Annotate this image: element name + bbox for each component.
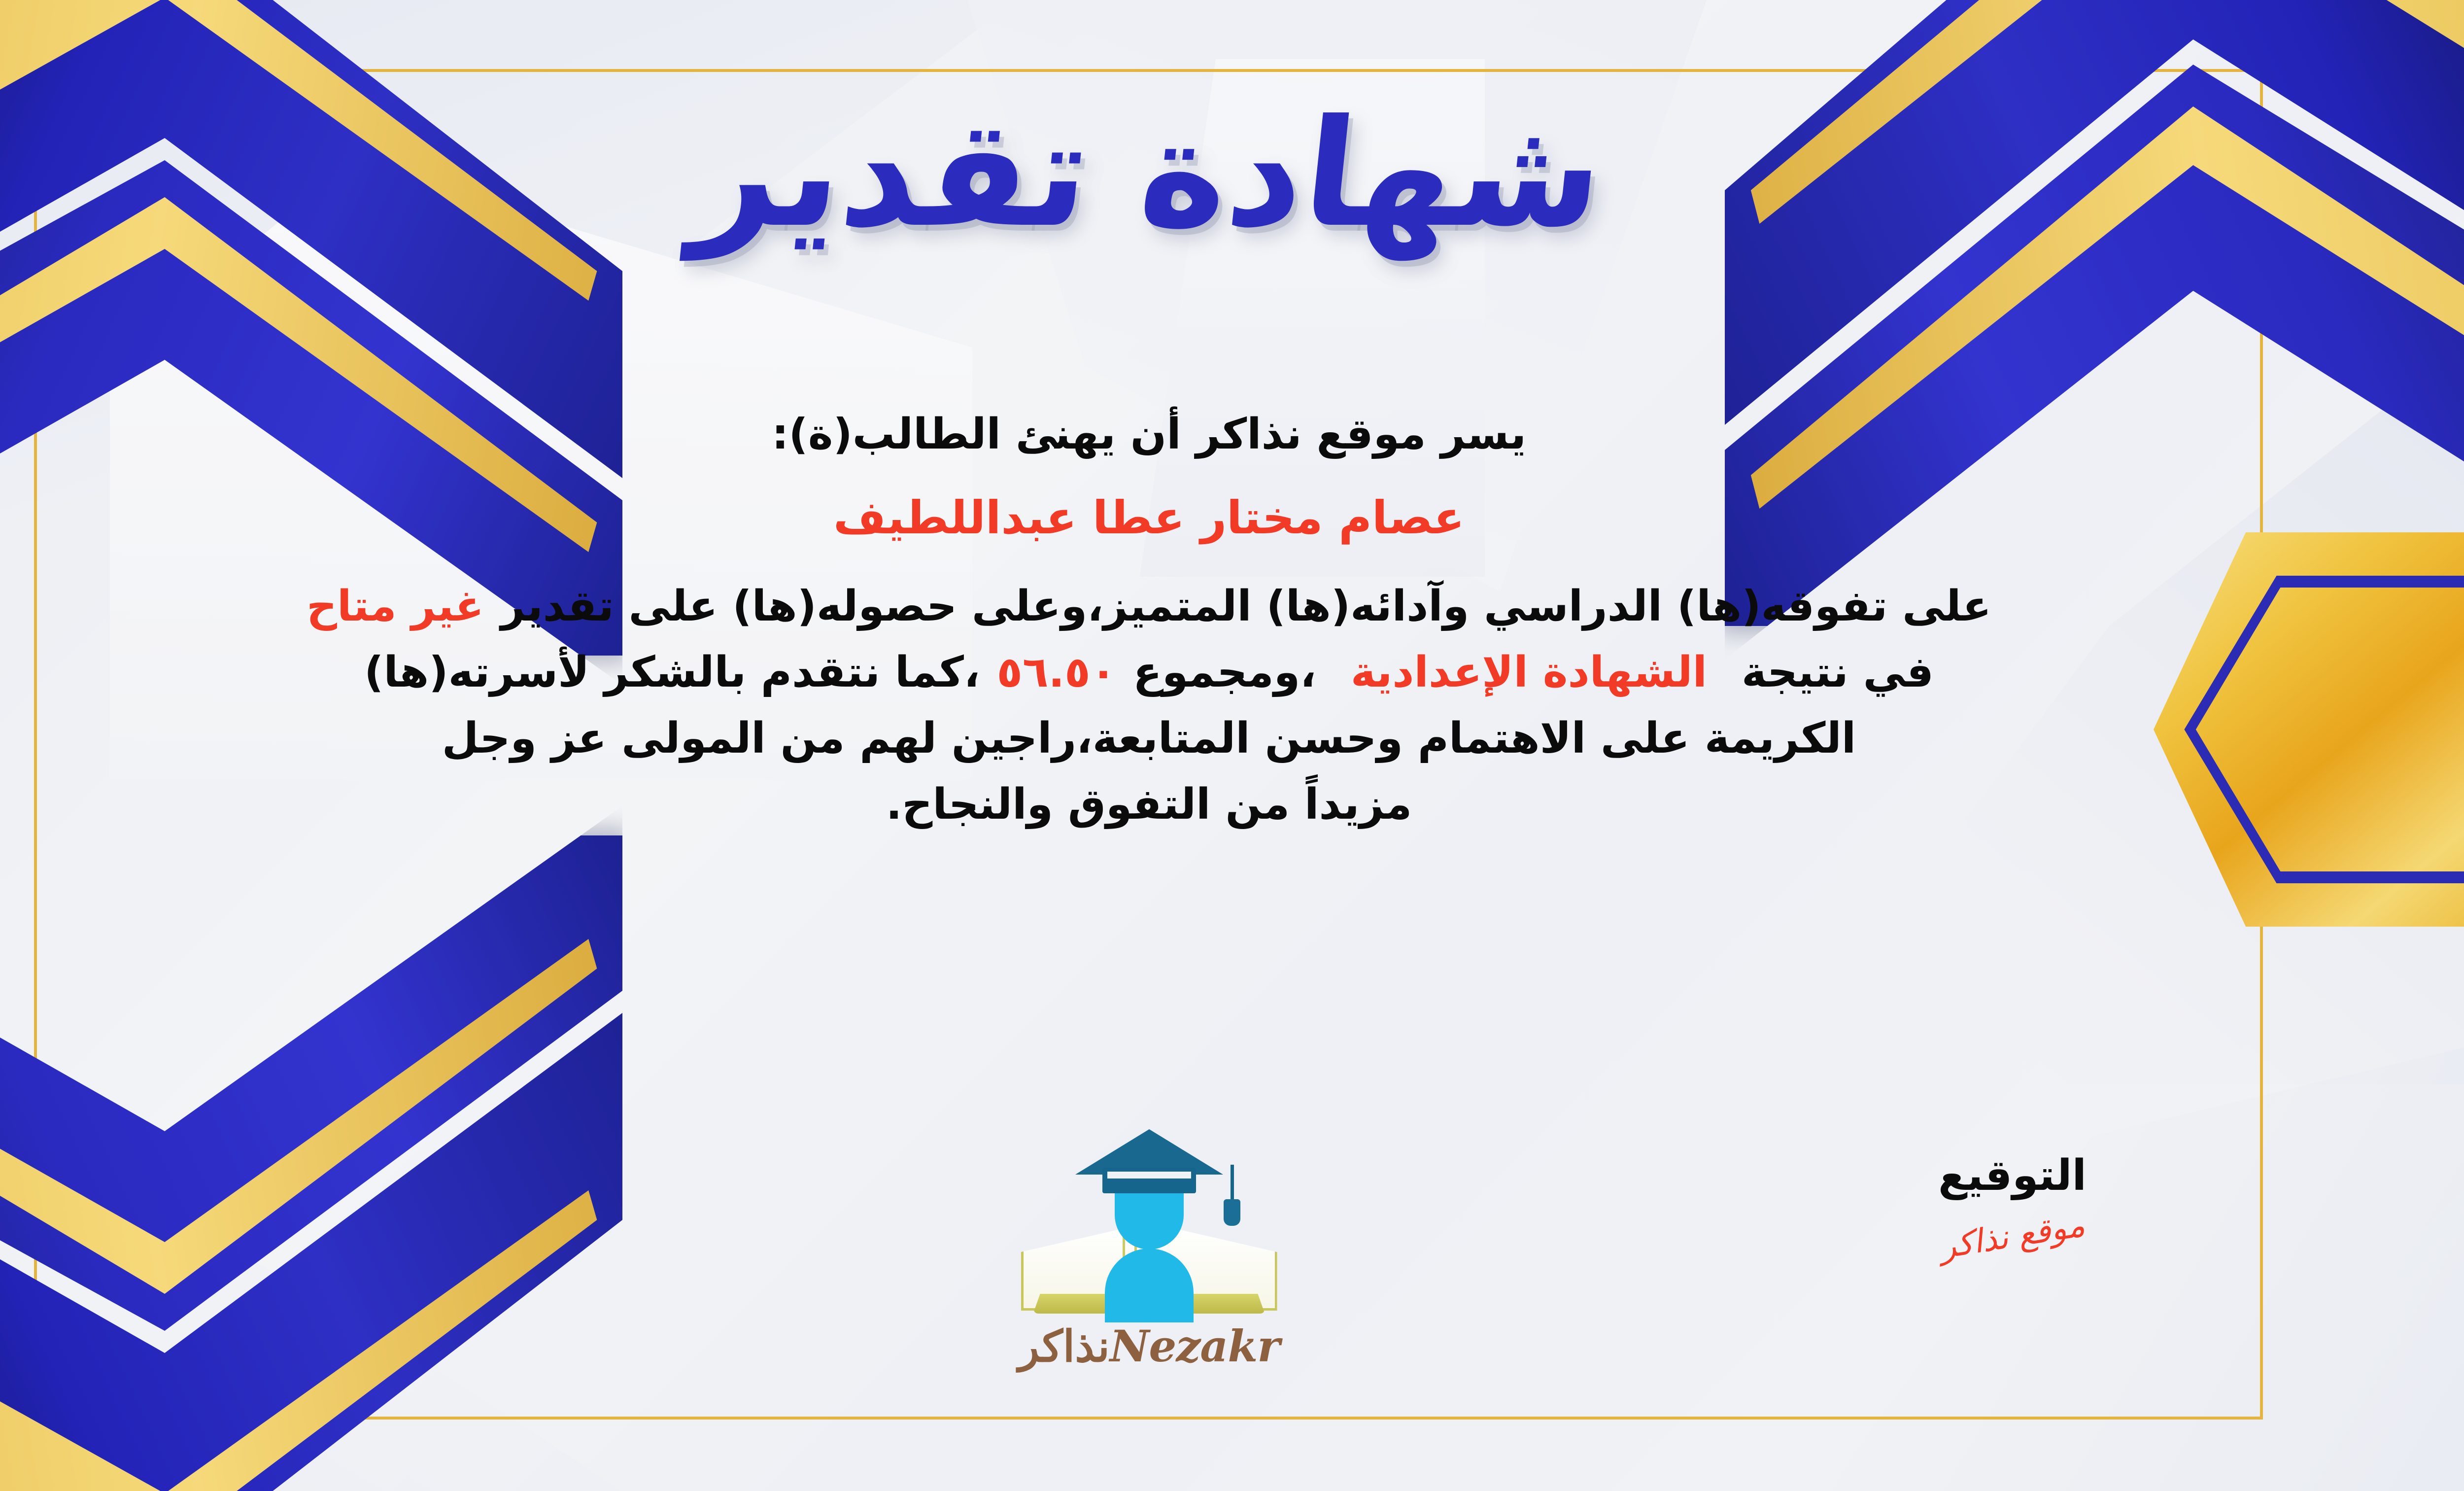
exam-name: الشهادة الإعدادية — [1351, 648, 1707, 697]
thanks-text: ،كما نتقدم بالشكر لأسرته(ها) — [364, 648, 980, 697]
body-line-4: مزيداً من التفوق والنجاح. — [34, 774, 2264, 834]
signature-mark: موقع نذاكر — [1937, 1206, 2088, 1266]
body-line-1-text: على تفوقه(ها) الدراسي وآدائه(ها) المتميز… — [501, 582, 1991, 631]
logo-arabic-text: نذاكر — [1018, 1320, 1110, 1372]
signature-label: التوقيع — [1938, 1151, 2087, 1200]
body-line-1: على تفوقه(ها) الدراسي وآدائه(ها) المتميز… — [34, 576, 2264, 636]
certificate-body: يسر موقع نذاكر أن يهنئ الطالب(ة): عصام م… — [34, 404, 2264, 840]
student-name: عصام مختار عطا عبداللطيف — [34, 486, 2264, 551]
signature-block: التوقيع موقع نذاكر — [1938, 1151, 2087, 1255]
certificate-footer: التوقيع موقع نذاكر Neza — [34, 1072, 2264, 1417]
graduation-tassel-icon — [1231, 1165, 1234, 1201]
logo-latin-text: Nezakr — [1110, 1320, 1280, 1372]
body-line-3: الكريمة على الاهتمام وحسن المتابعة،راجين… — [34, 708, 2264, 768]
total-score: ٥٦.٥٠ — [997, 648, 1117, 697]
total-label-text: ،ومجموع — [1133, 648, 1316, 697]
logo-wordmark: Nezakrنذاكر — [996, 1320, 1302, 1372]
grade-value: غير متاح — [307, 582, 484, 631]
site-logo: Nezakrنذاكر — [996, 1126, 1302, 1372]
graduation-cap-band — [1102, 1168, 1196, 1193]
certificate-title: شهادة تقدير — [687, 96, 1611, 251]
title-area: شهادة تقدير — [0, 96, 2464, 251]
body-line-2: في نتيجةالشهادة الإعدادية،ومجموع٥٦.٥٠،كم… — [34, 642, 2264, 702]
intro-line: يسر موقع نذاكر أن يهنئ الطالب(ة): — [34, 404, 2264, 464]
graduate-book-icon — [1011, 1126, 1287, 1314]
result-prefix-text: في نتيجة — [1742, 648, 1934, 697]
certificate-canvas: شهادة تقدير يسر موقع نذاكر أن يهنئ الطال… — [0, 0, 2464, 1491]
body-paragraph: على تفوقه(ها) الدراسي وآدائه(ها) المتميز… — [34, 576, 2264, 834]
